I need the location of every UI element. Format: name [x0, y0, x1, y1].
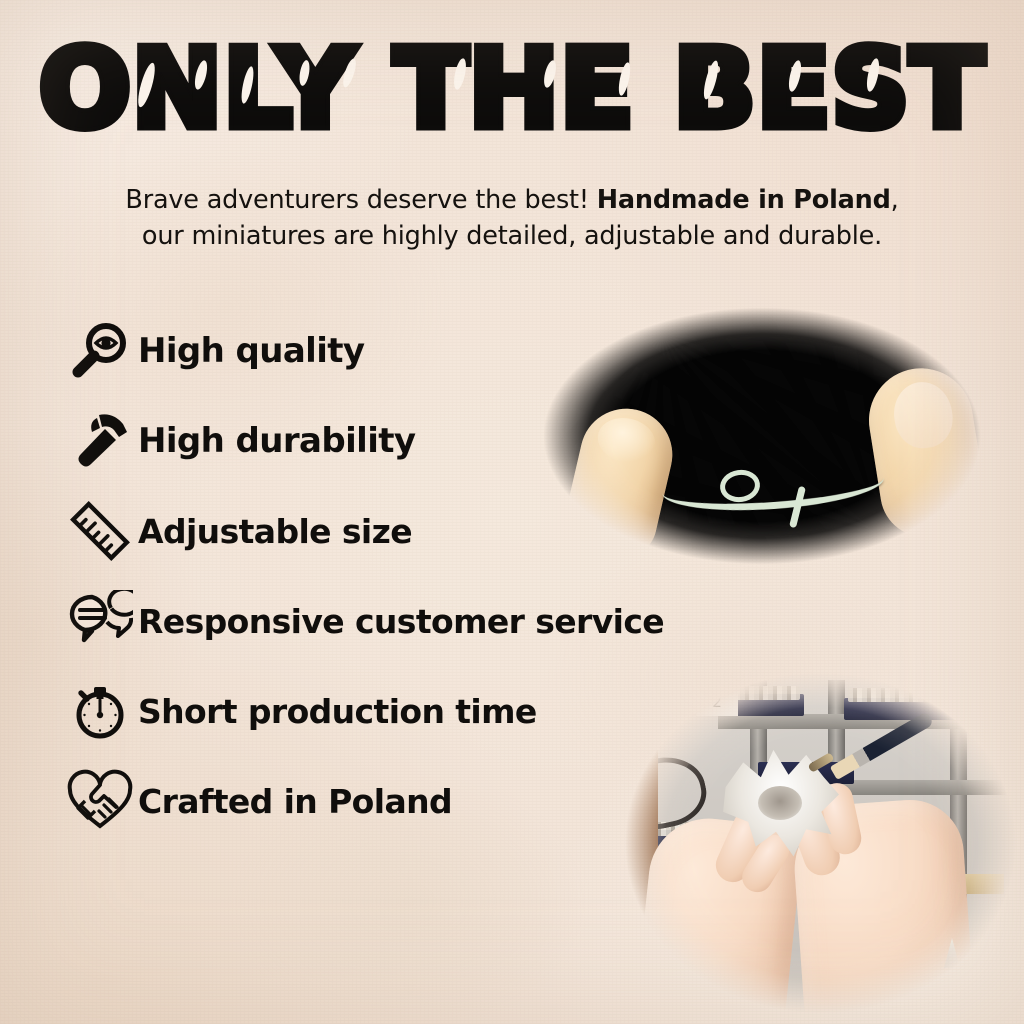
- dragon-face-detail: [758, 786, 802, 820]
- speech-bubbles-icon: [62, 585, 138, 657]
- hammer-icon: [62, 405, 138, 477]
- photo-backdrop: [512, 280, 1012, 580]
- subtitle-line1-bold: Handmade in Poland: [597, 185, 891, 215]
- feature-item-responsive-customer-service: Responsive customer service: [62, 576, 762, 666]
- hand-holding-miniature: [633, 813, 804, 1024]
- magnifier-eye-icon: [62, 315, 138, 387]
- miniatures-on-tray-top-right: [848, 688, 998, 702]
- ruler-icon: [62, 495, 138, 567]
- page-title: ONLY THE BEST: [0, 36, 1024, 144]
- painting-workshop-photo: 2: [600, 662, 1024, 1024]
- subtitle-line2: our miniatures are highly detailed, adju…: [142, 221, 882, 251]
- feature-label: High durability: [138, 421, 415, 461]
- workshop-scene: 2: [600, 662, 1024, 1024]
- subtitle-line1-prefix: Brave adventurers deserve the best!: [125, 185, 596, 215]
- feature-label: Crafted in Poland: [138, 782, 452, 821]
- feature-label: High quality: [138, 331, 365, 371]
- feature-label: Responsive customer service: [138, 602, 664, 641]
- stopwatch-icon: [62, 675, 138, 747]
- shelf-label: 2: [696, 688, 738, 716]
- feature-label: Adjustable size: [138, 512, 412, 551]
- subtitle-line1-suffix: ,: [891, 185, 899, 215]
- poster-canvas: ONLY THE BEST Brave adventurers deserve …: [0, 0, 1024, 1024]
- heart-handshake-icon: [62, 765, 138, 837]
- feature-label: Short production time: [138, 692, 537, 731]
- subtitle: Brave adventurers deserve the best! Hand…: [86, 182, 938, 254]
- flex-test-photo: [512, 280, 1012, 580]
